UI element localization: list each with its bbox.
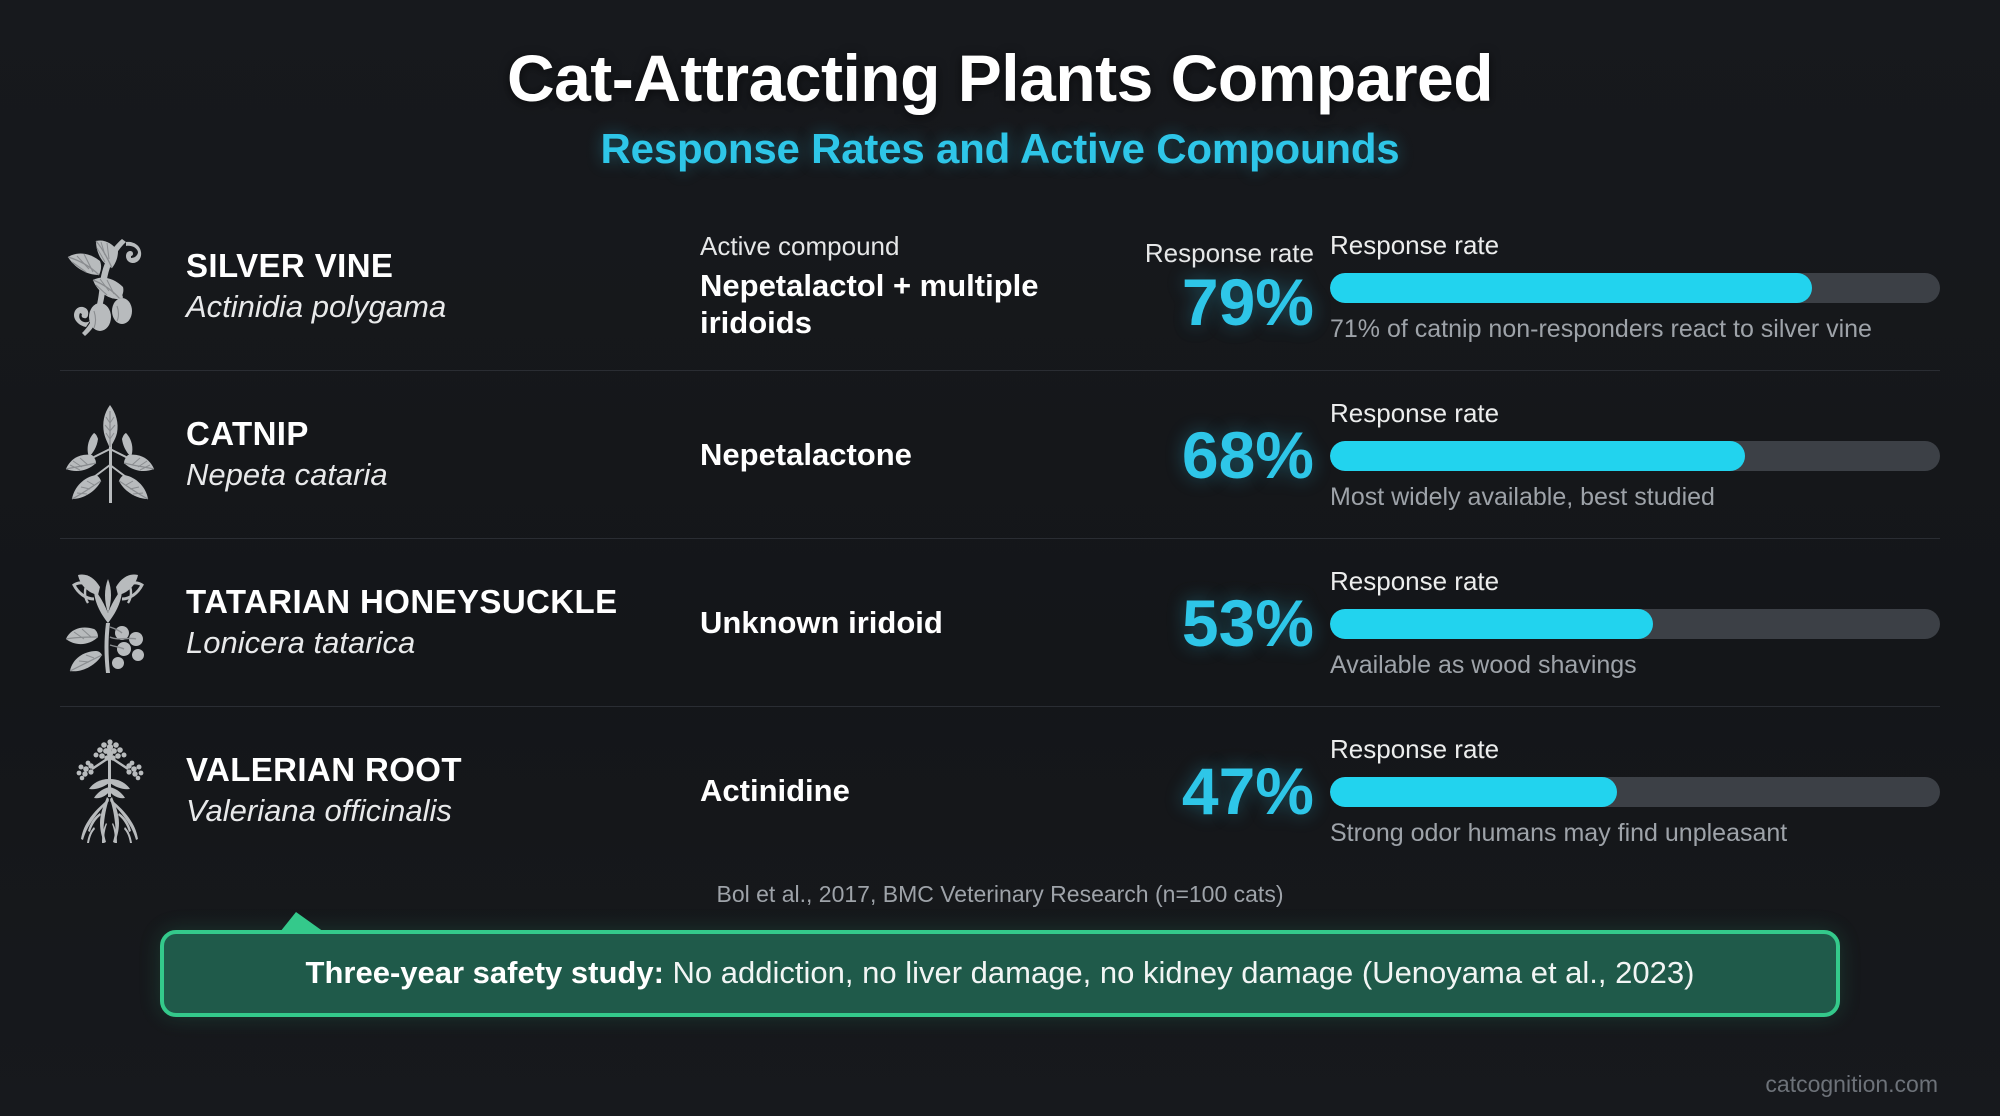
plant-scientific-name: Valeriana officinalis bbox=[186, 791, 462, 831]
plant-identity-cell: VALERIAN ROOT Valeriana officinalis bbox=[60, 735, 700, 847]
plant-names: SILVER VINE Actinidia polygama bbox=[186, 247, 446, 327]
progress-fill bbox=[1330, 777, 1617, 807]
percent-cell: 68% bbox=[1080, 422, 1330, 488]
percent-cell: Response rate 79% bbox=[1080, 238, 1330, 335]
plant-identity-cell: SILVER VINE Actinidia polygama bbox=[60, 231, 700, 343]
bar-label: Response rate bbox=[1330, 230, 1940, 261]
bar-label: Response rate bbox=[1330, 566, 1940, 597]
compound-cell: Active compound Nepetalactol + multiple … bbox=[700, 231, 1080, 342]
plant-names: TATARIAN HONEYSUCKLE Lonicera tatarica bbox=[186, 583, 618, 663]
compound-column-label: Active compound bbox=[700, 231, 1080, 262]
progress-track bbox=[1330, 441, 1940, 471]
tatarian-honeysuckle-plant-icon bbox=[60, 567, 160, 679]
plant-common-name: TATARIAN HONEYSUCKLE bbox=[186, 583, 618, 621]
valerian-root-plant-icon bbox=[60, 735, 160, 847]
response-rate-value: 47% bbox=[1182, 758, 1314, 824]
compound-value: Unknown iridoid bbox=[700, 604, 1080, 642]
plant-scientific-name: Actinidia polygama bbox=[186, 287, 446, 327]
compound-cell: Actinidine bbox=[700, 772, 1080, 810]
plant-names: VALERIAN ROOT Valeriana officinalis bbox=[186, 751, 462, 831]
progress-track bbox=[1330, 609, 1940, 639]
bar-note: Available as wood shavings bbox=[1330, 651, 1940, 680]
plant-comparison-list: SILVER VINE Actinidia polygama Active co… bbox=[0, 203, 2000, 875]
callout-pointer-icon bbox=[280, 912, 324, 932]
progress-fill bbox=[1330, 609, 1653, 639]
progress-track bbox=[1330, 777, 1940, 807]
safety-callout: Three-year safety study: No addiction, n… bbox=[160, 930, 1840, 1017]
source-citation: Bol et al., 2017, BMC Veterinary Researc… bbox=[0, 881, 2000, 908]
bar-note: Strong odor humans may find unpleasant bbox=[1330, 819, 1940, 848]
compound-cell: Unknown iridoid bbox=[700, 604, 1080, 642]
infographic-page: Cat-Attracting Plants Compared Response … bbox=[0, 0, 2000, 1116]
table-row: CATNIP Nepeta cataria Nepetalactone 68% … bbox=[60, 371, 1940, 539]
progress-track bbox=[1330, 273, 1940, 303]
callout-body: No addiction, no liver damage, no kidney… bbox=[673, 955, 1695, 990]
table-row: TATARIAN HONEYSUCKLE Lonicera tatarica U… bbox=[60, 539, 1940, 707]
page-title: Cat-Attracting Plants Compared bbox=[0, 44, 2000, 113]
plant-common-name: SILVER VINE bbox=[186, 247, 446, 285]
response-rate-value: 68% bbox=[1182, 422, 1314, 488]
percent-cell: 53% bbox=[1080, 590, 1330, 656]
progress-fill bbox=[1330, 441, 1745, 471]
bar-label: Response rate bbox=[1330, 734, 1940, 765]
watermark: catcognition.com bbox=[1765, 1071, 1938, 1098]
table-row: SILVER VINE Actinidia polygama Active co… bbox=[60, 203, 1940, 371]
progress-fill bbox=[1330, 273, 1812, 303]
callout-lead: Three-year safety study: bbox=[306, 955, 664, 990]
bar-cell: Response rate Most widely available, bes… bbox=[1330, 398, 1940, 512]
percent-cell: 47% bbox=[1080, 758, 1330, 824]
plant-names: CATNIP Nepeta cataria bbox=[186, 415, 388, 495]
plant-common-name: CATNIP bbox=[186, 415, 388, 453]
callout-text: Three-year safety study: No addiction, n… bbox=[194, 954, 1806, 993]
bar-label: Response rate bbox=[1330, 398, 1940, 429]
plant-common-name: VALERIAN ROOT bbox=[186, 751, 462, 789]
plant-identity-cell: CATNIP Nepeta cataria bbox=[60, 399, 700, 511]
plant-identity-cell: TATARIAN HONEYSUCKLE Lonicera tatarica bbox=[60, 567, 700, 679]
plant-scientific-name: Lonicera tatarica bbox=[186, 623, 618, 663]
bar-cell: Response rate Available as wood shavings bbox=[1330, 566, 1940, 680]
compound-cell: Nepetalactone bbox=[700, 436, 1080, 474]
bar-cell: Response rate 71% of catnip non-responde… bbox=[1330, 230, 1940, 344]
silver-vine-plant-icon bbox=[60, 231, 160, 343]
response-rate-value: 53% bbox=[1182, 590, 1314, 656]
callout-box: Three-year safety study: No addiction, n… bbox=[160, 930, 1840, 1017]
catnip-plant-icon bbox=[60, 399, 160, 511]
plant-scientific-name: Nepeta cataria bbox=[186, 455, 388, 495]
response-rate-value: 79% bbox=[1182, 269, 1314, 335]
bar-note: Most widely available, best studied bbox=[1330, 483, 1940, 512]
page-subtitle: Response Rates and Active Compounds bbox=[0, 125, 2000, 173]
compound-value: Actinidine bbox=[700, 772, 1080, 810]
table-row: VALERIAN ROOT Valeriana officinalis Acti… bbox=[60, 707, 1940, 875]
bar-cell: Response rate Strong odor humans may fin… bbox=[1330, 734, 1940, 848]
header: Cat-Attracting Plants Compared Response … bbox=[0, 0, 2000, 173]
compound-value: Nepetalactol + multiple iridoids bbox=[700, 267, 1080, 343]
bar-note: 71% of catnip non-responders react to si… bbox=[1330, 315, 1940, 344]
compound-value: Nepetalactone bbox=[700, 436, 1080, 474]
